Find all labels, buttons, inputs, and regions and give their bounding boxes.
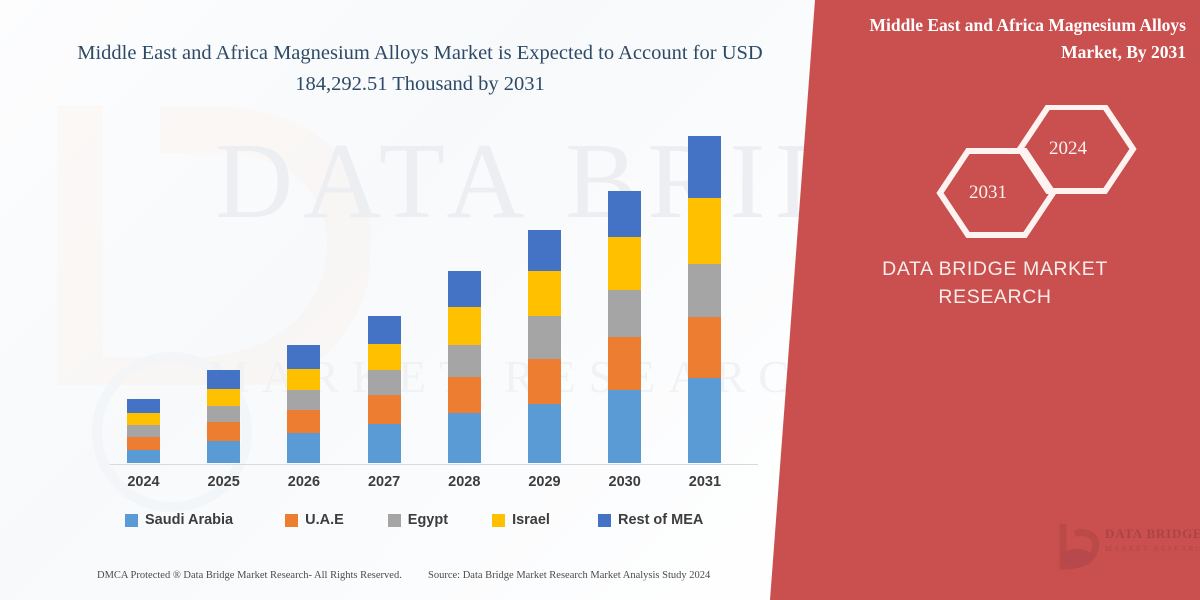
bar-segment-israel-2026 xyxy=(287,369,320,390)
legend-swatch-icon xyxy=(598,514,611,527)
bar-segment-israel-2028 xyxy=(448,307,481,345)
dbmr-logo: DATA BRIDGE MARKET RESEARCH xyxy=(1055,520,1200,572)
brand-name-line-1: DATA BRIDGE MARKET xyxy=(810,255,1180,283)
x-axis-tick-2026: 2026 xyxy=(269,474,339,490)
bar-segment-saudi-arabia-2026 xyxy=(287,433,320,463)
bar-segment-egypt-2025 xyxy=(207,406,240,422)
bar-segment-rest-of-mea-2030 xyxy=(608,191,641,237)
legend-label: Israel xyxy=(512,512,550,528)
bar-2028 xyxy=(448,271,481,463)
bar-segment-egypt-2026 xyxy=(287,390,320,410)
x-axis-tick-2030: 2030 xyxy=(590,474,660,490)
legend-label: Saudi Arabia xyxy=(145,512,233,528)
dbmr-logo-title: DATA BRIDGE xyxy=(1105,526,1200,542)
x-axis-line xyxy=(110,464,758,465)
bar-segment-u-a-e-2029 xyxy=(528,359,561,404)
legend-label: U.A.E xyxy=(305,512,344,528)
legend-item-israel[interactable]: Israel xyxy=(492,512,550,528)
legend-item-egypt[interactable]: Egypt xyxy=(388,512,448,528)
footer-source: Source: Data Bridge Market Research Mark… xyxy=(428,570,710,581)
bar-2031 xyxy=(688,136,721,463)
bar-segment-saudi-arabia-2030 xyxy=(608,390,641,463)
bar-segment-israel-2031 xyxy=(688,198,721,264)
bar-segment-rest-of-mea-2025 xyxy=(207,370,240,389)
x-axis-tick-2025: 2025 xyxy=(189,474,259,490)
bar-segment-egypt-2030 xyxy=(608,290,641,337)
bar-segment-saudi-arabia-2027 xyxy=(368,424,401,463)
bar-segment-rest-of-mea-2027 xyxy=(368,316,401,344)
bar-segment-rest-of-mea-2024 xyxy=(127,399,160,413)
bar-segment-rest-of-mea-2028 xyxy=(448,271,481,307)
chart-legend: Saudi ArabiaU.A.EEgyptIsraelRest of MEA xyxy=(125,512,755,528)
brand-name: DATA BRIDGE MARKET RESEARCH xyxy=(810,255,1180,311)
bar-segment-israel-2030 xyxy=(608,237,641,290)
bar-segment-egypt-2028 xyxy=(448,345,481,377)
brand-panel-title: Middle East and Africa Magnesium Alloys … xyxy=(806,12,1186,66)
bar-2025 xyxy=(207,370,240,463)
bar-segment-israel-2024 xyxy=(127,413,160,425)
bar-segment-rest-of-mea-2026 xyxy=(287,345,320,369)
bar-segment-saudi-arabia-2031 xyxy=(688,378,721,463)
bar-2026 xyxy=(287,345,320,463)
footer-copyright: DMCA Protected ® Data Bridge Market Rese… xyxy=(97,570,402,581)
x-axis-tick-2027: 2027 xyxy=(349,474,419,490)
x-axis-tick-2024: 2024 xyxy=(109,474,179,490)
hexagon-label-2031: 2031 xyxy=(969,182,1007,204)
dbmr-logo-subtitle: MARKET RESEARCH xyxy=(1105,544,1200,553)
legend-label: Rest of MEA xyxy=(618,512,703,528)
x-axis-tick-2029: 2029 xyxy=(510,474,580,490)
bar-segment-u-a-e-2024 xyxy=(127,437,160,450)
bar-segment-saudi-arabia-2029 xyxy=(528,404,561,463)
bar-segment-egypt-2031 xyxy=(688,264,721,317)
bar-segment-u-a-e-2031 xyxy=(688,317,721,378)
bar-segment-u-a-e-2027 xyxy=(368,395,401,424)
hexagon-group: 2024 2031 xyxy=(920,105,1150,240)
bar-segment-israel-2025 xyxy=(207,389,240,406)
legend-swatch-icon xyxy=(388,514,401,527)
x-axis-tick-2031: 2031 xyxy=(670,474,740,490)
bar-segment-rest-of-mea-2031 xyxy=(688,136,721,198)
bar-segment-saudi-arabia-2024 xyxy=(127,450,160,463)
stacked-bar-chart: 20242025202620272028202920302031 xyxy=(0,0,830,600)
bar-segment-israel-2027 xyxy=(368,344,401,370)
legend-label: Egypt xyxy=(408,512,448,528)
brand-panel: Middle East and Africa Magnesium Alloys … xyxy=(770,0,1200,600)
legend-swatch-icon xyxy=(125,514,138,527)
bar-2024 xyxy=(127,399,160,463)
chart-panel: DATA BRIDGE MARKET RESEARCH Middle East … xyxy=(0,0,830,600)
bar-segment-egypt-2029 xyxy=(528,316,561,359)
bar-segment-egypt-2027 xyxy=(368,370,401,395)
infographic-root: DATA BRIDGE MARKET RESEARCH Middle East … xyxy=(0,0,1200,600)
hexagon-label-2024: 2024 xyxy=(1049,138,1087,160)
bar-segment-u-a-e-2028 xyxy=(448,377,481,413)
bar-2029 xyxy=(528,230,561,463)
legend-item-u-a-e[interactable]: U.A.E xyxy=(285,512,344,528)
bar-segment-saudi-arabia-2028 xyxy=(448,413,481,463)
legend-swatch-icon xyxy=(285,514,298,527)
bar-segment-israel-2029 xyxy=(528,271,561,316)
bar-segment-u-a-e-2025 xyxy=(207,422,240,441)
legend-item-rest-of-mea[interactable]: Rest of MEA xyxy=(598,512,703,528)
bar-segment-u-a-e-2026 xyxy=(287,410,320,433)
bar-segment-u-a-e-2030 xyxy=(608,337,641,390)
legend-swatch-icon xyxy=(492,514,505,527)
x-axis-tick-2028: 2028 xyxy=(429,474,499,490)
bar-2030 xyxy=(608,191,641,463)
bar-segment-egypt-2024 xyxy=(127,425,160,437)
bar-segment-rest-of-mea-2029 xyxy=(528,230,561,271)
bar-segment-saudi-arabia-2025 xyxy=(207,441,240,463)
footer: DMCA Protected ® Data Bridge Market Rese… xyxy=(0,566,830,600)
legend-item-saudi-arabia[interactable]: Saudi Arabia xyxy=(125,512,233,528)
bar-2027 xyxy=(368,316,401,463)
brand-name-line-2: RESEARCH xyxy=(810,283,1180,311)
